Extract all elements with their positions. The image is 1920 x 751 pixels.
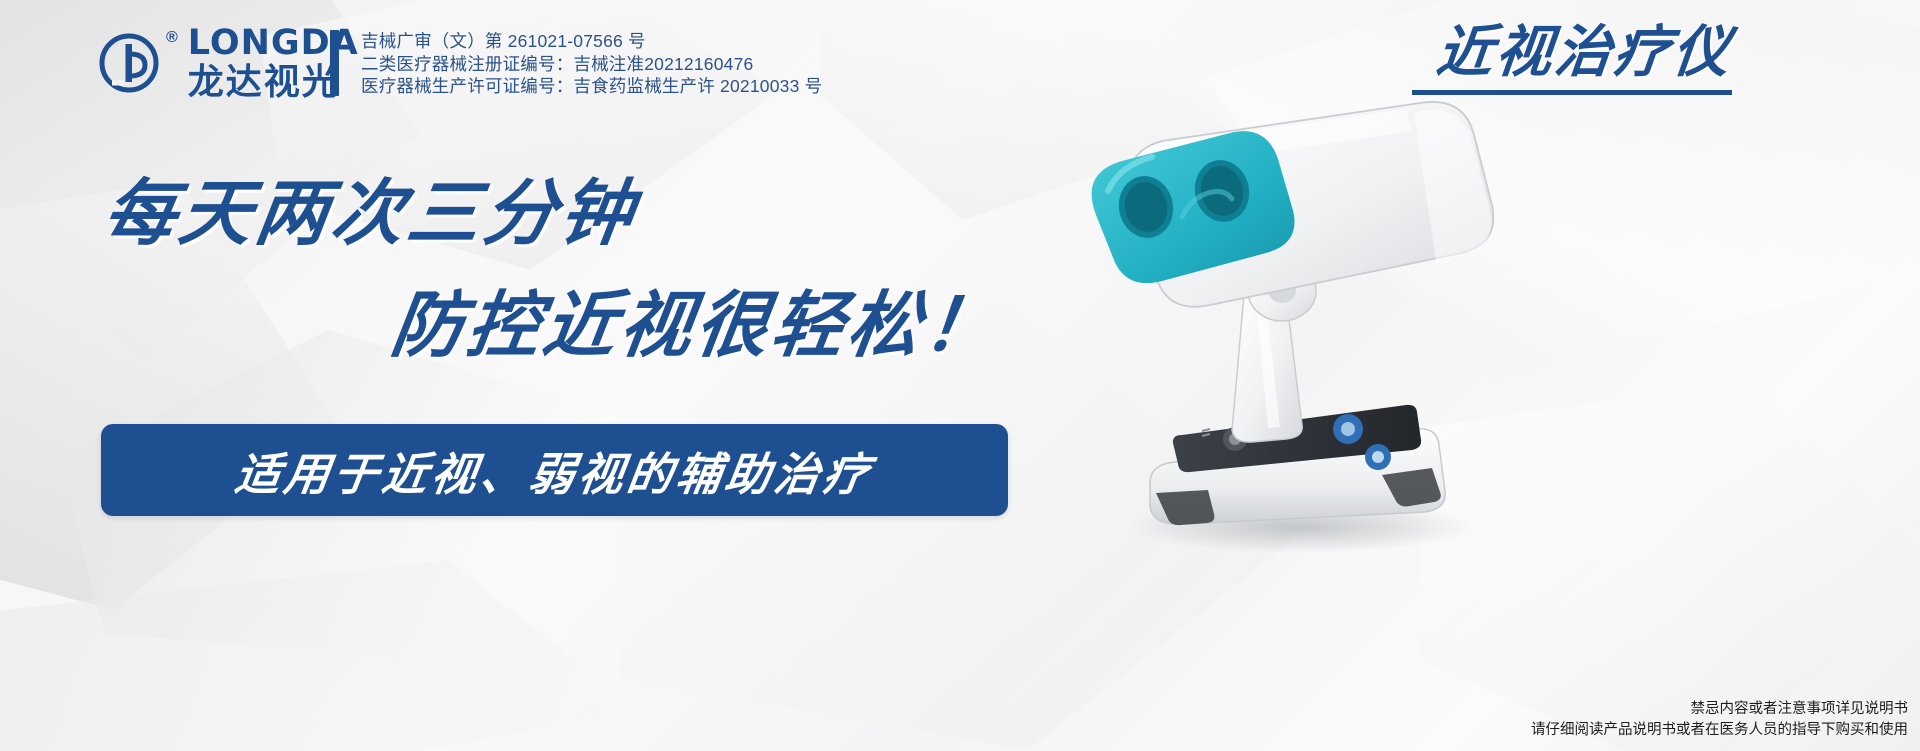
panel-dial-inner <box>1341 422 1355 436</box>
product-title-text: 近视治疗仪 <box>1434 24 1735 80</box>
callout-text: 适用于近视、弱视的辅助治疗 <box>231 438 877 503</box>
vertical-divider <box>330 30 339 96</box>
longda-circle-logo-icon <box>98 32 160 94</box>
product-title: 近视治疗仪 <box>1412 24 1732 95</box>
panel-button-secondary-inner <box>1372 451 1384 463</box>
regulatory-line-1: 吉械广审（文）第 261021-07566 号 <box>361 30 822 53</box>
regulatory-info: 吉械广审（文）第 261021-07566 号 二类医疗器械注册证编号：吉械注准… <box>361 30 822 98</box>
callout-box: 适用于近视、弱视的辅助治疗 <box>101 424 1008 516</box>
disclaimer-line-1: 禁忌内容或者注意事项详见说明书 <box>1531 699 1908 720</box>
headline-line-1: 每天两次三分钟 <box>99 178 641 250</box>
disclaimer-line-2: 请仔细阅读产品说明书或者在医务人员的指导下购买和使用 <box>1531 720 1908 741</box>
regulatory-line-3: 医疗器械生产许可证编号：吉食药监械生产许 20210033 号 <box>361 75 822 98</box>
headline-line-2: 防控近视很轻松！ <box>387 290 1005 362</box>
registered-trademark-mark: ® <box>166 30 178 46</box>
brand-logo: ® LONGDA 龙达视光 <box>98 26 359 100</box>
disclaimer: 禁忌内容或者注意事项详见说明书 请仔细阅读产品说明书或者在医务人员的指导下购买和… <box>1531 699 1908 741</box>
regulatory-line-2: 二类医疗器械注册证编号：吉械注准20212160476 <box>361 53 822 76</box>
background-gradient <box>0 0 1920 751</box>
myopia-treatment-device-image <box>1030 95 1590 565</box>
advertisement-banner: ® LONGDA 龙达视光 吉械广审（文）第 261021-07566 号 二类… <box>0 0 1920 751</box>
